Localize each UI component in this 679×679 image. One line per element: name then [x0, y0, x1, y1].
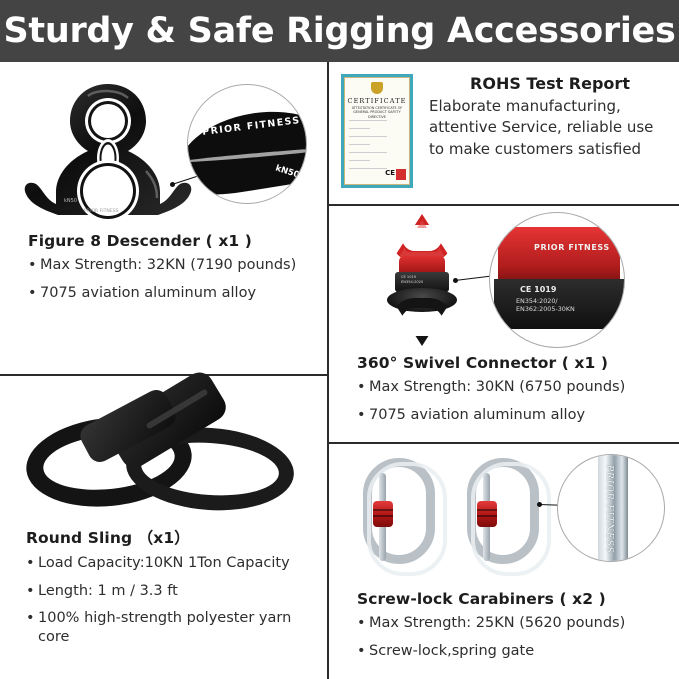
page-header: Sturdy & Safe Rigging Accessories — [0, 0, 679, 62]
swivel-magnified-red-body — [498, 227, 620, 283]
content-grid: kN50 PRIOR FITNESS PRIOR FITNESS kN50 Fi… — [0, 62, 679, 679]
swivel-bullet-list: Max Strength: 30KN (6750 pounds) 7075 av… — [357, 378, 671, 424]
figure8-title: Figure 8 Descender ( x1 ) — [28, 232, 317, 250]
swivel-body-marking: CE 1019 EN354:2020 — [401, 275, 423, 285]
carabiner-magnifier: PRIOR FITNESS — [557, 454, 665, 562]
carabiners-text-block: Screw-lock Carabiners ( x2 ) Max Strengt… — [357, 590, 675, 669]
certificate-page: CERTIFICATE ATTESTATION CERTIFICATE OF G… — [344, 77, 410, 185]
infographic-page: Sturdy & Safe Rigging Accessories — [0, 0, 679, 679]
figure8-magnifier: PRIOR FITNESS kN50 — [187, 84, 307, 204]
round-sling-image — [22, 392, 302, 510]
certificate-logo-icon — [396, 169, 406, 180]
swivel-standards-text: EN354:2020/ EN362:2005-30KN — [516, 297, 575, 313]
list-item: Load Capacity:10KN 1Ton Capacity — [26, 554, 325, 573]
panel-swivel-connector: CE 1019 EN354:2020 PRIOR FITNESS CE 1019… — [329, 206, 679, 442]
panel-figure8-descender: kN50 PRIOR FITNESS PRIOR FITNESS kN50 Fi… — [0, 62, 327, 374]
rohs-text-block: ROHS Test Report Elaborate manufacturing… — [429, 74, 671, 160]
certificate-crest-icon — [371, 82, 383, 94]
figure8-bullet-list: Max Strength: 32KN (7190 pounds) 7075 av… — [28, 256, 317, 302]
rohs-body: Elaborate manufacturing, attentive Servi… — [429, 96, 671, 160]
sling-text-block: Round Sling （x1） Load Capacity:10KN 1Ton… — [26, 526, 325, 655]
list-item: Length: 1 m / 3.3 ft — [26, 582, 325, 601]
figure8-text-block: Figure 8 Descender ( x1 ) Max Strength: … — [28, 232, 317, 311]
carabiners-bullet-list: Max Strength: 25KN (5620 pounds) Screw-l… — [357, 614, 675, 660]
certificate-image: CERTIFICATE ATTESTATION CERTIFICATE OF G… — [341, 74, 413, 188]
carabiner-first — [363, 458, 435, 564]
carabiner-second — [467, 458, 539, 564]
swivel-magnifier: PRIOR FITNESS CE 1019 EN354:2020/ EN362:… — [489, 212, 625, 348]
certificate-text-lines — [349, 120, 405, 176]
figure8-descender-image: kN50 PRIOR FITNESS — [18, 76, 198, 224]
list-item: 7075 aviation aluminum alloy — [28, 284, 317, 303]
svg-text:kN50: kN50 — [64, 198, 77, 204]
list-item: 100% high-strength polyester yarn core — [26, 609, 325, 646]
swivel-connector-image: CE 1019 EN354:2020 — [357, 214, 487, 346]
svg-text:PRIOR FITNESS: PRIOR FITNESS — [84, 208, 119, 214]
rohs-title: ROHS Test Report — [429, 74, 671, 93]
list-item: Max Strength: 30KN (6750 pounds) — [357, 378, 671, 397]
sling-title: Round Sling （x1） — [26, 526, 325, 548]
swivel-brand-text: PRIOR FITNESS — [534, 243, 610, 252]
swivel-text-block: 360° Swivel Connector ( x1 ) Max Strengt… — [357, 354, 671, 433]
panel-rohs-report: CERTIFICATE ATTESTATION CERTIFICATE OF G… — [329, 62, 679, 204]
swivel-top-ring-highlight — [397, 220, 447, 260]
swivel-ce-code-text: CE 1019 — [520, 285, 556, 294]
carabiner-engraving-text: PRIOR FITNESS — [604, 465, 614, 554]
sling-bullet-list: Load Capacity:10KN 1Ton Capacity Length:… — [26, 554, 325, 646]
figure8-descender-icon: kN50 PRIOR FITNESS — [18, 76, 198, 224]
ce-mark-text: CE — [385, 169, 395, 177]
certificate-heading: CERTIFICATE — [345, 97, 409, 105]
list-item: Screw-lock,spring gate — [357, 642, 675, 661]
carabiner-screwlock-sleeve — [477, 501, 497, 527]
certificate-subheading: ATTESTATION CERTIFICATE OF GENERAL PRODU… — [348, 106, 406, 119]
list-item: Max Strength: 25KN (5620 pounds) — [357, 614, 675, 633]
swivel-title: 360° Swivel Connector ( x1 ) — [357, 354, 671, 372]
swivel-bottom-ring — [391, 298, 453, 346]
list-item: Max Strength: 32KN (7190 pounds) — [28, 256, 317, 275]
carabiner-screwlock-sleeve — [373, 501, 393, 527]
page-title: Sturdy & Safe Rigging Accessories — [3, 11, 675, 51]
list-item: 7075 aviation aluminum alloy — [357, 406, 671, 425]
panel-screwlock-carabiners: PRIOR FITNESS Screw-lock Carabiners ( x2… — [329, 444, 679, 679]
panel-round-sling: Round Sling （x1） Load Capacity:10KN 1Ton… — [0, 376, 327, 679]
carabiners-title: Screw-lock Carabiners ( x2 ) — [357, 590, 675, 608]
